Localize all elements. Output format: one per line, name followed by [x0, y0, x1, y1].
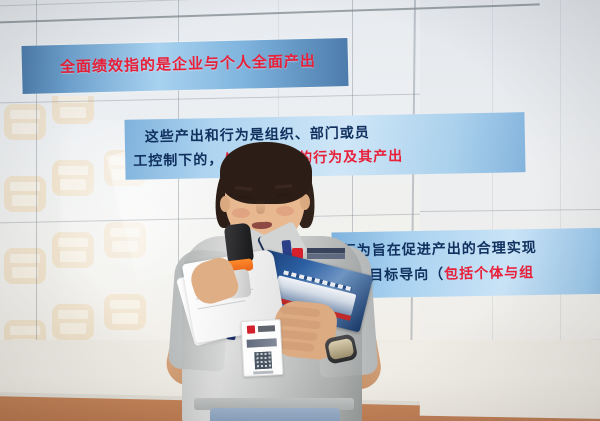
watermark-logo-icon	[4, 248, 46, 284]
name-badge	[241, 319, 284, 377]
slide-title-banner: 全面绩效指的是企业与个人全面产出	[21, 38, 348, 94]
badge-brand-text	[258, 325, 275, 332]
badge-logo-icon	[247, 325, 255, 333]
watermark-logo-icon	[4, 176, 46, 212]
badge-name-text	[247, 338, 277, 348]
panel-seam-vertical	[560, 0, 561, 352]
left-ear	[220, 196, 230, 212]
speaker-person	[170, 140, 410, 421]
right-cheek	[276, 206, 294, 216]
hair	[220, 142, 312, 204]
left-cheek	[232, 208, 250, 218]
shirt-chest-wordmark	[307, 248, 345, 259]
watch-face	[327, 338, 354, 361]
slide-title-text: 全面绩效指的是企业与个人全面产出	[60, 50, 316, 77]
badge-footer-text	[253, 370, 273, 374]
panel-seam-vertical	[492, 0, 493, 352]
jeans	[210, 408, 340, 421]
watermark-logo-icon	[4, 104, 46, 140]
badge-qr-code-icon	[254, 352, 272, 370]
nose	[256, 200, 265, 214]
photo-scene: 全面绩效指的是企业与个人全面产出 这些产出和行为是组织、部门或员 工控制下的，与…	[0, 0, 600, 421]
slide-bottom-line2-red: 包括个体与组	[444, 265, 534, 283]
